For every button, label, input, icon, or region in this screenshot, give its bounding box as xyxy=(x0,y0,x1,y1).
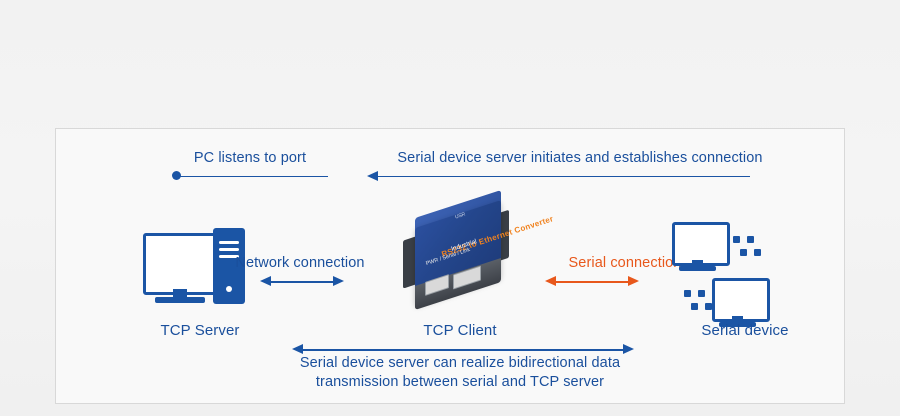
serial-device-dot xyxy=(698,290,705,297)
caption-serial-device: Serial device xyxy=(655,322,835,339)
diagram-canvas: PC listens to port Serial device server … xyxy=(0,0,900,416)
serial-device-dot xyxy=(705,303,712,310)
label-pc-listens-to-port: PC listens to port xyxy=(130,150,370,166)
serial-device-server-device: USR RS232 to Ethernet Converter Industri… xyxy=(395,198,520,323)
arrow-right-bottom xyxy=(623,344,634,354)
serial-device-monitor-top-base xyxy=(679,266,716,271)
serial-device-dot xyxy=(684,290,691,297)
serial-device-dot xyxy=(747,236,754,243)
caption-tcp-server: TCP Server xyxy=(120,322,280,339)
serial-device-dot xyxy=(691,303,698,310)
arrow-right-serial-connection xyxy=(628,276,639,286)
bottom-caption-line-1: Serial device server can realize bidirec… xyxy=(255,355,665,371)
tower-vent-line xyxy=(219,248,239,251)
line-server-initiates xyxy=(378,176,750,177)
serial-device-dot xyxy=(733,236,740,243)
caption-tcp-client: TCP Client xyxy=(380,322,540,339)
serial-device-dot xyxy=(740,249,747,256)
line-serial-connection xyxy=(556,281,628,283)
tcp-server-monitor-base xyxy=(155,297,205,303)
dot-pc-listens-endpoint xyxy=(172,171,181,180)
tower-power-dot xyxy=(226,286,232,292)
label-server-initiates-connection: Serial device server initiates and estab… xyxy=(370,150,790,166)
line-bottom-bidirectional xyxy=(303,349,623,351)
arrow-left-server-initiates xyxy=(367,171,378,181)
tower-vent-line xyxy=(219,241,239,244)
line-network-connection xyxy=(271,281,333,283)
arrow-left-network-connection xyxy=(260,276,271,286)
serial-device-dot xyxy=(754,249,761,256)
bottom-caption-line-2: transmission between serial and TCP serv… xyxy=(255,374,665,390)
tcp-server-monitor-neck xyxy=(173,289,187,297)
arrow-left-serial-connection xyxy=(545,276,556,286)
line-pc-listens xyxy=(180,176,328,177)
arrow-right-network-connection xyxy=(333,276,344,286)
arrow-left-bottom xyxy=(292,344,303,354)
label-network-connection: Network connection xyxy=(200,255,400,271)
